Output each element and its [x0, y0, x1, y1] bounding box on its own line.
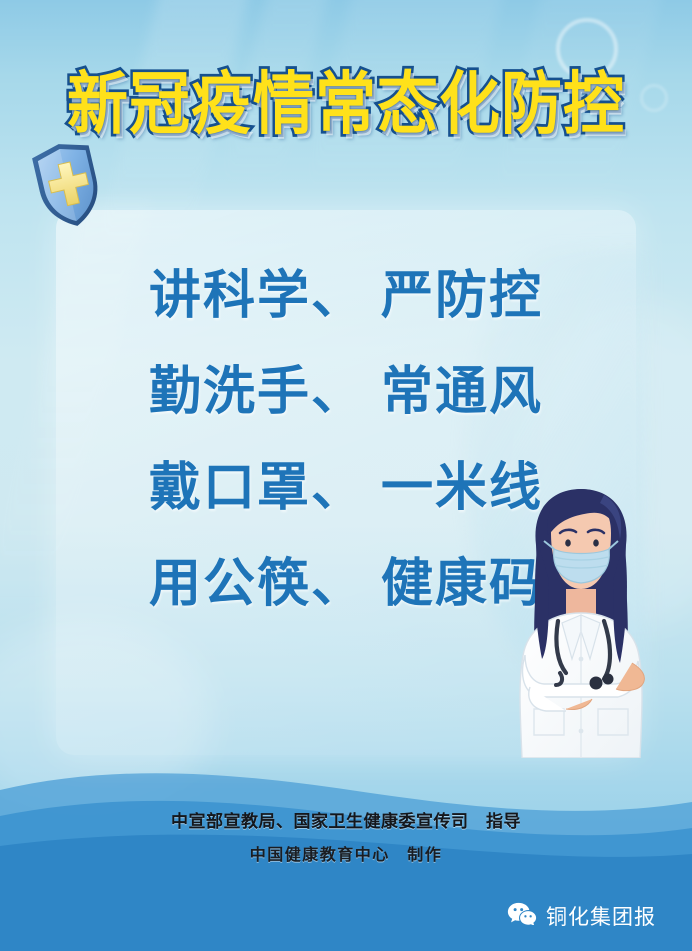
- slogan-right: 常通风: [381, 362, 543, 422]
- slogan-line: 讲科学、严防控: [56, 248, 636, 344]
- wechat-icon: [507, 902, 537, 930]
- credit-producer: 中国健康教育中心 制作: [0, 841, 692, 865]
- shield-cross-icon: [30, 139, 106, 231]
- title-block: 新冠疫情常态化防控: [0, 74, 692, 135]
- slogan-left: 戴口罩、: [149, 458, 365, 518]
- slogan-right: 严防控: [381, 266, 543, 326]
- page-title: 新冠疫情常态化防控: [67, 70, 625, 138]
- slogan-line: 勤洗手、常通风: [56, 344, 636, 440]
- female-doctor-illustration: [492, 473, 670, 758]
- slogan-left: 讲科学、: [149, 266, 365, 326]
- watermark-label: 铜化集团报: [546, 901, 656, 931]
- watermark[interactable]: 铜化集团报: [507, 901, 656, 931]
- slogan-left: 用公筷、: [149, 554, 365, 614]
- watermark-bar: 铜化集团报: [0, 880, 692, 951]
- credits-block: 中宣部宣教局、国家卫生健康委宣传司 指导 中国健康教育中心 制作: [0, 807, 692, 865]
- poster-canvas: 新冠疫情常态化防控: [0, 0, 692, 951]
- credit-guidance: 中宣部宣教局、国家卫生健康委宣传司 指导: [0, 807, 692, 832]
- slogan-left: 勤洗手、: [149, 362, 365, 422]
